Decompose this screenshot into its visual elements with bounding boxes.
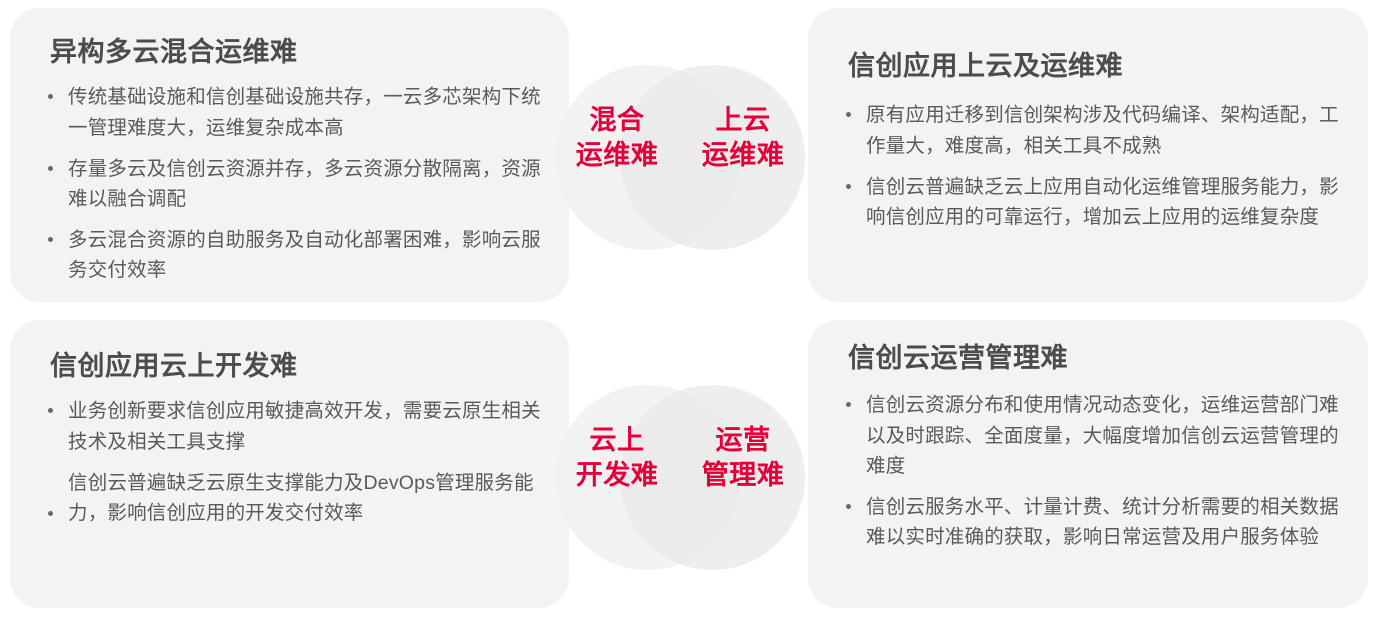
list-item-text: 传统基础设施和信创基础设施共存，一云多芯架构下统一管理难度大，运维复杂成本高 (68, 86, 541, 138)
venn-label-cloud-development: 云上 开发难 (552, 423, 682, 493)
bullet-list: 传统基础设施和信创基础设施共存，一云多芯架构下统一管理难度大，运维复杂成本高 存… (46, 82, 543, 285)
venn-diagram-bottom: 云上 开发难 运营 管理难 (555, 385, 805, 585)
list-item-text: 信创云资源分布和使用情况动态变化，运维运营部门难以及时跟踪、全面度量，大幅度增加… (866, 394, 1339, 476)
panel-title: 异构多云混合运维难 (50, 36, 543, 68)
list-item: 信创云资源分布和使用情况动态变化，运维运营部门难以及时跟踪、全面度量，大幅度增加… (844, 390, 1342, 481)
bullet-dot-icon (48, 94, 53, 99)
venn-label-cloud-migration-ops: 上云 运维难 (678, 103, 808, 173)
list-item: 原有应用迁移到信创架构涉及代码编译、架构适配，工作量大，难度高，相关工具不成熟 (844, 100, 1342, 160)
list-item-text: 信创云服务水平、计量计费、统计分析需要的相关数据难以实时准确的获取，影响日常运营… (866, 496, 1339, 548)
list-item: 信创云普遍缺乏云上应用自动化运维管理服务能力，影响信创应用的可靠运行，增加云上应… (844, 172, 1342, 232)
panel-cloud-development: 信创应用云上开发难 业务创新要求信创应用敏捷高效开发，需要云原生相关技术及相关工… (10, 320, 569, 608)
bullet-dot-icon (48, 511, 53, 516)
venn-label-operations-management: 运营 管理难 (678, 423, 808, 493)
list-item: 存量多云及信创云资源并存，多云资源分散隔离，资源难以融合调配 (46, 154, 543, 214)
bullet-dot-icon (48, 237, 53, 242)
list-item: 多云混合资源的自助服务及自动化部署困难，影响云服务交付效率 (46, 225, 543, 285)
bullet-dot-icon (846, 112, 851, 117)
bullet-dot-icon (48, 166, 53, 171)
list-item: 信创云普遍缺乏云原生支撑能力及DevOps管理服务能力，影响信创应用的开发交付效… (46, 468, 543, 528)
bullet-list: 业务创新要求信创应用敏捷高效开发，需要云原生相关技术及相关工具支撑 信创云普遍缺… (46, 396, 543, 528)
list-item-text: 原有应用迁移到信创架构涉及代码编译、架构适配，工作量大，难度高，相关工具不成熟 (866, 104, 1339, 156)
panel-cloud-operations-management: 信创云运营管理难 信创云资源分布和使用情况动态变化，运维运营部门难以及时跟踪、全… (808, 320, 1368, 608)
list-item-text: 信创云普遍缺乏云上应用自动化运维管理服务能力，影响信创应用的可靠运行，增加云上应… (866, 176, 1339, 228)
bullet-dot-icon (48, 408, 53, 413)
list-item: 传统基础设施和信创基础设施共存，一云多芯架构下统一管理难度大，运维复杂成本高 (46, 82, 543, 142)
venn-diagram-top: 混合 运维难 上云 运维难 (555, 65, 805, 265)
panel-title: 信创云运营管理难 (848, 342, 1342, 374)
infographic-canvas: 异构多云混合运维难 传统基础设施和信创基础设施共存，一云多芯架构下统一管理难度大… (0, 0, 1378, 620)
panel-title: 信创应用上云及运维难 (848, 50, 1342, 82)
bullet-dot-icon (846, 402, 851, 407)
bullet-dot-icon (846, 504, 851, 509)
bullet-list: 信创云资源分布和使用情况动态变化，运维运营部门难以及时跟踪、全面度量，大幅度增加… (844, 390, 1342, 552)
bullet-dot-icon (846, 184, 851, 189)
bullet-list: 原有应用迁移到信创架构涉及代码编译、架构适配，工作量大，难度高，相关工具不成熟 … (844, 100, 1342, 232)
panel-title: 信创应用云上开发难 (50, 350, 543, 382)
venn-label-hybrid-ops: 混合 运维难 (552, 103, 682, 173)
list-item-text: 业务创新要求信创应用敏捷高效开发，需要云原生相关技术及相关工具支撑 (68, 400, 541, 452)
list-item: 信创云服务水平、计量计费、统计分析需要的相关数据难以实时准确的获取，影响日常运营… (844, 492, 1342, 552)
list-item: 业务创新要求信创应用敏捷高效开发，需要云原生相关技术及相关工具支撑 (46, 396, 543, 456)
panel-app-migration-ops: 信创应用上云及运维难 原有应用迁移到信创架构涉及代码编译、架构适配，工作量大，难… (808, 8, 1368, 302)
list-item-text: 多云混合资源的自助服务及自动化部署困难，影响云服务交付效率 (68, 229, 541, 281)
list-item-text: 存量多云及信创云资源并存，多云资源分散隔离，资源难以融合调配 (68, 158, 541, 210)
list-item-text: 信创云普遍缺乏云原生支撑能力及DevOps管理服务能力，影响信创应用的开发交付效… (68, 472, 534, 524)
panel-heterogeneous-multicloud-ops: 异构多云混合运维难 传统基础设施和信创基础设施共存，一云多芯架构下统一管理难度大… (10, 8, 569, 302)
